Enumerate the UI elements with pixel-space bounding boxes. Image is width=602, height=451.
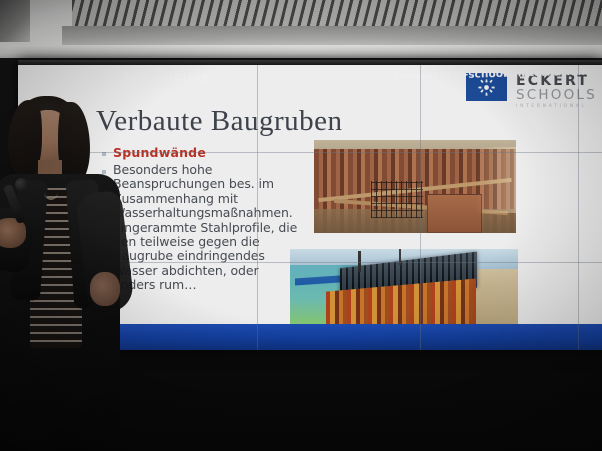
video-wall-top-bezel <box>18 60 602 65</box>
photo-rebar-cage <box>371 181 424 218</box>
bullet-text-body: Besonders hohe Beanspruchungen bes. im Z… <box>113 163 302 293</box>
presenter-necklace <box>44 184 58 200</box>
presenter-person <box>0 96 136 451</box>
ceiling <box>0 0 602 66</box>
microphone-head <box>15 178 28 191</box>
presenter-hair-side <box>58 102 90 184</box>
logo-sub-text: SCHOOLS <box>516 89 597 103</box>
photo-highlight <box>476 147 516 212</box>
sheet-pile-excavation-photo <box>314 140 516 233</box>
footer-slogan: THE FUTURE! <box>122 71 218 85</box>
presenter-hair-front <box>8 100 42 178</box>
photo-scene: Verbaute Baugruben Spundwände Besonders … <box>0 0 602 451</box>
presenter-right-hand <box>90 272 120 306</box>
logo-tagline-text: INTERNATIONAL <box>516 105 597 110</box>
ceiling-corner-shadow <box>0 0 30 42</box>
photo-steel-block <box>427 194 482 233</box>
